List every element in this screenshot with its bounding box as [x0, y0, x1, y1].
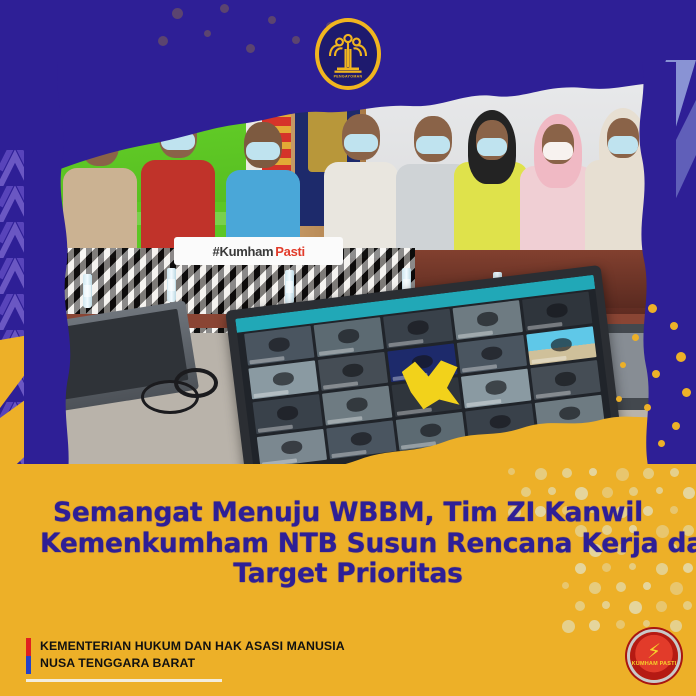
confetti-dot — [204, 30, 211, 37]
banner-dot — [589, 620, 600, 631]
zoom-participant-tile — [314, 317, 384, 356]
seal-label: KUMHAM PASTI — [630, 662, 678, 668]
sign-highlight: Pasti — [275, 244, 305, 259]
sign-hashtag: #Kumham — [213, 244, 274, 259]
participant-head — [481, 345, 504, 361]
confetti-dot — [292, 36, 300, 44]
zoom-participant-tile — [244, 326, 314, 365]
banner-dot — [670, 620, 682, 632]
confetti-dot — [172, 8, 183, 19]
footer-line-1: KEMENTERIAN HUKUM DAN HAK ASASI MANUSIA — [40, 638, 345, 655]
banner-dot — [670, 506, 678, 514]
banner-dot — [656, 487, 663, 494]
banner-dot — [656, 601, 667, 612]
confetti-dot — [268, 16, 276, 24]
participant-head — [407, 320, 430, 336]
zoom-participant-tile — [318, 352, 388, 391]
pengayoman-logo: PENGAYOMAN — [315, 18, 381, 90]
banner-dot — [643, 468, 654, 479]
zoom-participant-tile — [461, 369, 531, 408]
title-line-1: Semangat Menuju WBBM, Tim ZI Kanwil — [40, 498, 656, 529]
participant-head — [337, 328, 360, 344]
banner-dot — [683, 563, 693, 573]
water-bottle — [285, 270, 294, 304]
water-bottle — [167, 268, 176, 302]
footer-line-2: NUSA TENGGARA BARAT — [40, 655, 345, 672]
participant-name-label — [389, 339, 424, 347]
title-line-3: Target Prioritas — [40, 559, 656, 590]
pasti-seal-badge: ⚡ KUMHAM PASTI — [630, 632, 678, 680]
banner-dot — [562, 620, 575, 633]
page-title: Semangat Menuju WBBM, Tim ZI Kanwil Keme… — [40, 498, 656, 590]
banner-dot — [670, 468, 679, 477]
participant-name-label — [458, 330, 493, 338]
accent-dot — [676, 352, 686, 362]
banner-dot — [683, 487, 695, 499]
participant-name-label — [323, 382, 358, 390]
banner-dot — [562, 468, 572, 478]
banner-dot — [683, 601, 692, 610]
banner-dot — [629, 487, 638, 496]
banner-dot — [629, 601, 642, 614]
poster-canvas: #KumhamPasti — [0, 0, 696, 696]
banner-dot — [548, 487, 556, 495]
footer-identity: KEMENTERIAN HUKUM DAN HAK ASASI MANUSIA … — [26, 638, 345, 674]
banner-dot — [656, 563, 668, 575]
participant-head — [476, 311, 499, 327]
footer-color-bars — [26, 638, 31, 674]
power-cable-coil-2 — [174, 368, 218, 398]
banner-dot — [535, 468, 547, 480]
banner-dot — [508, 468, 515, 475]
banner-dot — [602, 601, 610, 609]
banner-dot — [616, 468, 629, 481]
banner-dot — [521, 487, 531, 497]
participant-name-label — [462, 365, 497, 373]
participant-name-label — [250, 356, 285, 364]
zoom-participant-tile — [457, 334, 527, 373]
zoom-participant-tile — [249, 360, 319, 399]
participant-name-label — [254, 390, 289, 398]
confetti-dot — [246, 44, 255, 53]
accent-dot — [682, 388, 691, 397]
lightning-bolt-icon: ⚡ — [647, 641, 661, 661]
bottom-banner: Semangat Menuju WBBM, Tim ZI Kanwil Keme… — [0, 464, 696, 696]
footer-text-block: KEMENTERIAN HUKUM DAN HAK ASASI MANUSIA … — [40, 638, 345, 672]
confetti-dot — [220, 4, 229, 13]
banner-dot — [589, 468, 597, 476]
kumham-pasti-sign: #KumhamPasti — [174, 237, 344, 265]
banner-dot — [643, 620, 650, 627]
participant-head — [485, 380, 508, 396]
title-line-2: Kemenkumham NTB Susun Rencana Kerja dan — [40, 529, 656, 560]
participant-head — [272, 371, 295, 387]
zoom-participant-tile — [383, 309, 453, 348]
svg-text:PENGAYOMAN: PENGAYOMAN — [334, 74, 363, 78]
participant-head — [342, 362, 365, 378]
participant-name-label — [319, 347, 354, 355]
banyan-tree-icon: PENGAYOMAN — [324, 29, 372, 79]
footer-underline — [26, 679, 222, 682]
banner-dot — [616, 620, 625, 629]
seal-inner: ⚡ KUMHAM PASTI — [630, 632, 678, 680]
zoom-participant-tile — [453, 300, 523, 339]
banner-dot — [575, 601, 585, 611]
banner-dot — [670, 582, 683, 595]
participant-head — [268, 337, 291, 353]
confetti-dot — [158, 36, 168, 46]
